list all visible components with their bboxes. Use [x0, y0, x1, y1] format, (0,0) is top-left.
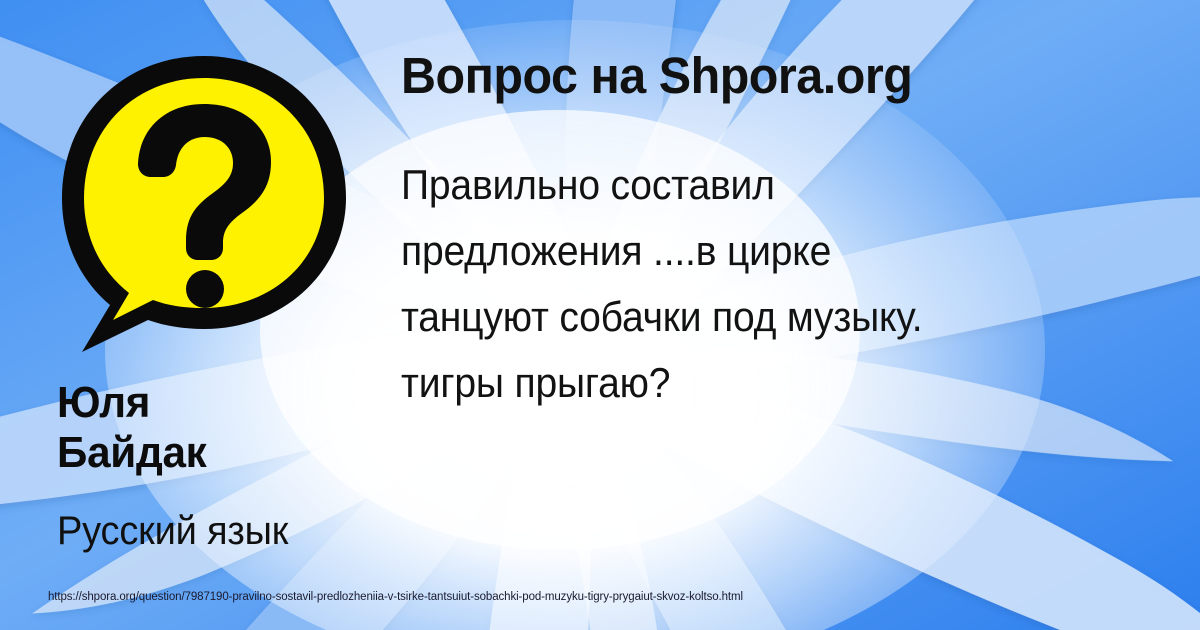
source-url-link[interactable]: https://shpora.org/question/7987190-prav…: [48, 589, 743, 605]
share-card: Вопрос на Shpora.org Правильно составил …: [0, 0, 1200, 630]
author-name-line: Байдак: [57, 428, 374, 478]
question-line: тигры прыгаю?: [401, 350, 1108, 416]
page-title: Вопрос на Shpora.org: [401, 47, 1142, 105]
author-name-line: Юля: [57, 378, 374, 428]
question-line: предложения ....в цирке: [401, 218, 1108, 284]
subject-label: Русский язык: [57, 508, 399, 554]
question-speech-bubble-icon: [56, 52, 352, 358]
question-line: танцуют собачки под музыку.: [401, 284, 1108, 350]
question-line: Правильно составил: [401, 152, 1108, 218]
author-name: Юля Байдак: [57, 378, 374, 478]
question-text: Правильно составил предложения ....в цир…: [401, 152, 1108, 416]
